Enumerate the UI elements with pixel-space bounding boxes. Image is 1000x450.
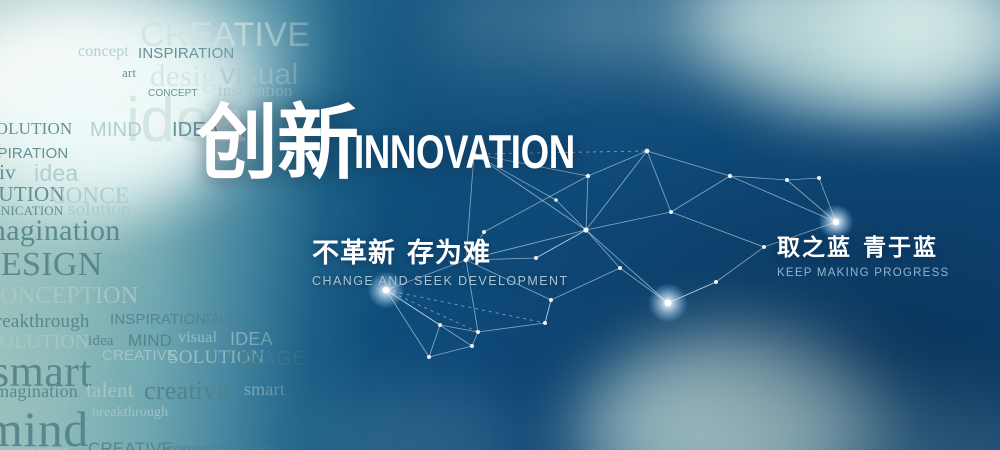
network-node — [476, 330, 480, 334]
network-node — [714, 280, 718, 284]
network-node — [833, 219, 839, 225]
network-edge — [586, 230, 620, 268]
network-node — [438, 323, 442, 327]
network-node — [785, 178, 789, 182]
network-edge-dashed — [386, 290, 545, 323]
innovation-banner: CREATIVEINSPIRATIONconceptdesignvisualar… — [0, 0, 1000, 450]
network-edge — [545, 300, 551, 323]
network-node — [583, 227, 588, 232]
subtitle-left-cn-part2: 存为难 — [407, 238, 491, 268]
subtitle-right-english: KEEP MAKING PROGRESS — [777, 267, 949, 279]
network-node — [664, 299, 671, 306]
subtitle-left-chinese: 不革新存为难 — [312, 231, 569, 270]
network-node — [645, 149, 650, 154]
subtitle-right-cn-part2: 青于蓝 — [863, 234, 938, 260]
network-node — [669, 210, 673, 214]
network-node — [543, 321, 547, 325]
network-edge — [586, 176, 588, 230]
network-node — [762, 245, 766, 249]
network-node — [427, 355, 431, 359]
network-edge — [671, 212, 764, 247]
network-node — [728, 174, 732, 178]
network-node — [554, 198, 558, 202]
polygon-network-graphic — [0, 0, 1000, 450]
subtitle-right: 取之蓝青于蓝 KEEP MAKING PROGRESS — [777, 228, 949, 279]
network-edge — [556, 200, 586, 230]
network-edge — [484, 176, 588, 232]
network-edge — [472, 332, 478, 346]
network-node — [618, 266, 622, 270]
network-node — [549, 298, 553, 302]
subtitle-left: 不革新存为难 CHANGE AND SEEK DEVELOPMENT — [312, 231, 569, 288]
subtitle-left-cn-part1: 不革新 — [312, 238, 396, 268]
page-title-english: INNOVATION — [354, 128, 575, 175]
network-edge — [787, 178, 819, 180]
page-title-chinese: 创新 — [196, 105, 358, 184]
network-edge — [671, 176, 730, 212]
network-edge — [647, 151, 671, 212]
subtitle-right-chinese: 取之蓝青于蓝 — [777, 228, 949, 262]
headline: 创新 INNOVATION — [196, 105, 637, 184]
network-node — [470, 344, 474, 348]
network-edge — [429, 346, 472, 357]
network-node — [817, 176, 821, 180]
network-edge — [647, 151, 730, 176]
subtitle-left-english: CHANGE AND SEEK DEVELOPMENT — [312, 274, 569, 288]
network-edge — [716, 247, 764, 282]
network-edge — [586, 212, 671, 230]
network-edge — [429, 325, 440, 357]
network-edge — [478, 323, 545, 332]
subtitle-right-cn-part1: 取之蓝 — [777, 234, 852, 260]
